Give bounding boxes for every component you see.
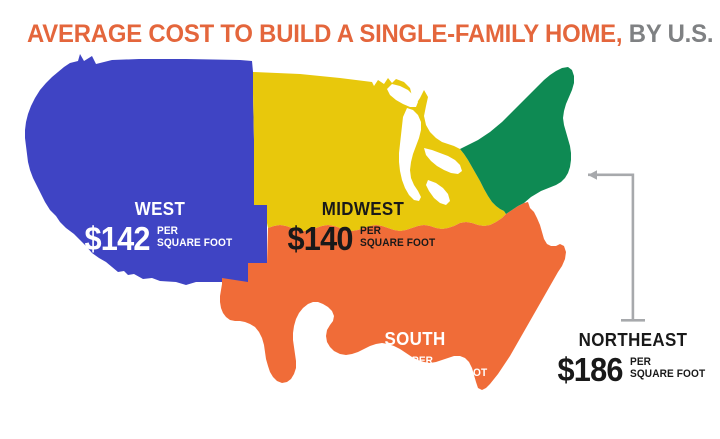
region-name-midwest: MIDWEST [283,200,443,219]
page-title: AVERAGE COST TO BUILD A SINGLE-FAMILY HO… [27,21,720,47]
region-unit-line1-midwest: PER [360,225,381,237]
region-unit-line1-west: PER [157,225,178,237]
region-unit-line2-northeast: SQUARE FOOT [630,368,705,380]
region-unit-line1-south: PER [412,355,433,367]
infographic-canvas: AVERAGE COST TO BUILD A SINGLE-FAMILY HO… [0,0,720,439]
page-title-subtitle: BY U.S. REGION [622,20,720,48]
region-value-row-midwest: $140 PER SQUARE FOOT [278,222,448,255]
region-unit-south: PER SQUARE FOOT [412,356,487,379]
region-label-south[interactable]: SOUTH $122 PER SQUARE FOOT [330,330,500,385]
region-value-northeast: $186 [557,353,622,386]
page-title-main: AVERAGE COST TO BUILD A SINGLE-FAMILY HO… [27,20,622,48]
region-name-west: WEST [75,200,244,219]
region-value-midwest: $140 [287,222,352,255]
region-name-south: SOUTH [335,330,495,349]
region-unit-west: PER SQUARE FOOT [157,226,232,249]
region-value-row-northeast: $186 PER SQUARE FOOT [557,353,709,386]
region-value-south: $122 [339,352,404,385]
region-unit-line1-northeast: PER [630,356,651,368]
region-label-west[interactable]: WEST $142 PER SQUARE FOOT [70,200,250,255]
region-unit-midwest: PER SQUARE FOOT [360,226,435,249]
region-value-row-south: $122 PER SQUARE FOOT [330,352,500,385]
region-label-midwest[interactable]: MIDWEST $140 PER SQUARE FOOT [278,200,448,255]
region-unit-line2-west: SQUARE FOOT [157,237,232,249]
region-unit-northeast: PER SQUARE FOOT [630,357,705,380]
us-region-map: WEST $142 PER SQUARE FOOT MIDWEST $140 P… [0,50,720,439]
region-value-west: $142 [84,222,149,255]
region-value-row-west: $142 PER SQUARE FOOT [70,222,250,255]
region-name-northeast: NORTHEAST [562,331,705,350]
region-unit-line2-midwest: SQUARE FOOT [360,237,435,249]
region-unit-line2-south: SQUARE FOOT [412,367,487,379]
region-label-northeast[interactable]: NORTHEAST $186 PER SQUARE FOOT [557,331,709,386]
